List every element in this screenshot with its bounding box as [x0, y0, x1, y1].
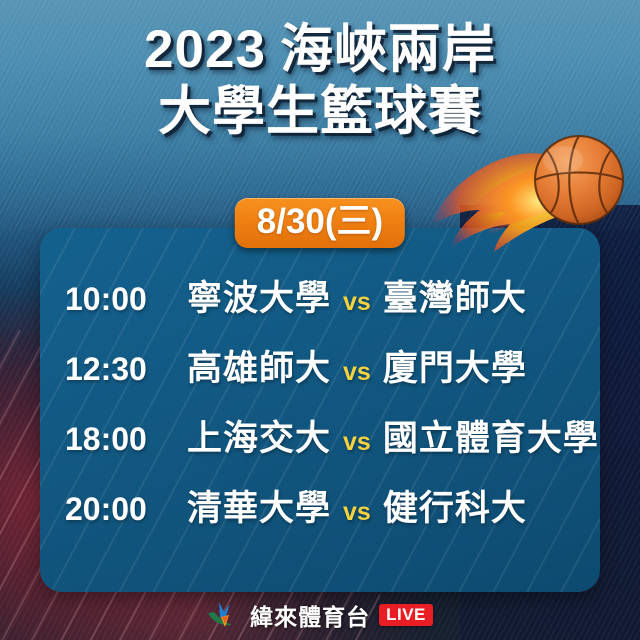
title-year: 2023 [144, 20, 266, 79]
date-badge-label: 8/30(三) [257, 202, 383, 241]
table-row: 10:00 寧波大學 vs 臺灣師大 [40, 270, 600, 340]
schedule-list: 10:00 寧波大學 vs 臺灣師大 12:30 高雄師大 vs 廈門大學 18… [40, 228, 600, 592]
table-row: 20:00 清華大學 vs 健行科大 [40, 480, 600, 550]
schedule-panel: 10:00 寧波大學 vs 臺灣師大 12:30 高雄師大 vs 廈門大學 18… [40, 228, 600, 592]
match-time: 20:00 [65, 491, 187, 528]
title-line-1-text: 海峽兩岸 [280, 20, 496, 79]
match-team-home: 高雄師大 [187, 340, 331, 391]
match-team-away: 國立體育大學 [383, 410, 599, 461]
match-team-home: 清華大學 [187, 480, 331, 531]
match-vs-label: vs [343, 288, 371, 317]
date-badge: 8/30(三) [235, 198, 405, 248]
table-row: 12:30 高雄師大 vs 廈門大學 [40, 340, 600, 410]
match-team-away: 健行科大 [383, 480, 527, 531]
match-time: 12:30 [65, 351, 187, 388]
match-time: 10:00 [65, 281, 187, 318]
title-line-2: 大學生籃球賽 [0, 84, 640, 140]
poster-title: 2023海峽兩岸 大學生籃球賽 [0, 22, 640, 140]
match-vs-label: vs [343, 428, 371, 457]
videoland-sports-logo-icon [207, 600, 241, 630]
match-team-away: 廈門大學 [383, 340, 527, 391]
live-badge: LIVE [379, 604, 433, 626]
footer-bar: 緯來體育台 LIVE [0, 598, 640, 632]
title-line-1: 2023海峽兩岸 [0, 22, 640, 78]
channel-name: 緯來體育台 [250, 598, 370, 632]
poster-root: 2023海峽兩岸 大學生籃球賽 [0, 0, 640, 640]
table-row: 18:00 上海交大 vs 國立體育大學 [40, 410, 600, 480]
match-team-home: 寧波大學 [187, 270, 331, 321]
match-vs-label: vs [343, 358, 371, 387]
match-time: 18:00 [65, 421, 187, 458]
match-team-home: 上海交大 [187, 410, 331, 461]
match-team-away: 臺灣師大 [383, 270, 527, 321]
match-vs-label: vs [343, 498, 371, 527]
